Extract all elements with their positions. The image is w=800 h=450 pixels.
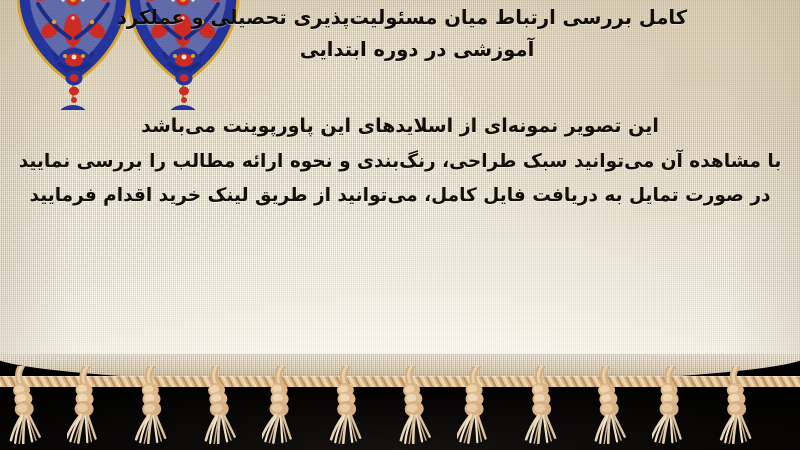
slide-title: کامل بررسی ارتباط میان مسئولیت‌پذیری تحص… [22, 2, 782, 65]
fringe-tassel [587, 366, 627, 444]
fringe-tassel [522, 366, 562, 444]
fringe-tassel [457, 366, 497, 444]
slide-title-line-2: آموزشی در دوره ابتدایی [22, 34, 800, 66]
body-line-1: این تصویر نمونه‌ای از اسلایدهای این پاور… [16, 112, 784, 141]
body-line-2: با مشاهده آن می‌توانید سبک طراحی، رنگ‌بن… [16, 148, 784, 176]
fringe-tassel [392, 366, 432, 444]
fringe-tassel [197, 366, 237, 444]
body-line-3: در صورت تمایل به دریافت فایل کامل، می‌تو… [16, 182, 784, 210]
slide-title-line-1: کامل بررسی ارتباط میان مسئولیت‌پذیری تحص… [22, 2, 782, 34]
fringe-tassel [132, 366, 172, 444]
carpet-fringe [0, 354, 800, 450]
fringe-tassel [652, 366, 692, 444]
presentation-slide: کامل بررسی ارتباط میان مسئولیت‌پذیری تحص… [0, 0, 800, 450]
fringe-tassel [262, 366, 302, 444]
fringe-tassel [717, 366, 757, 444]
fringe-tassel [327, 366, 367, 444]
slide-body-text: این تصویر نمونه‌ای از اسلایدهای این پاور… [16, 112, 784, 210]
fringe-tassel [2, 366, 42, 444]
fringe-tassel [67, 366, 107, 444]
